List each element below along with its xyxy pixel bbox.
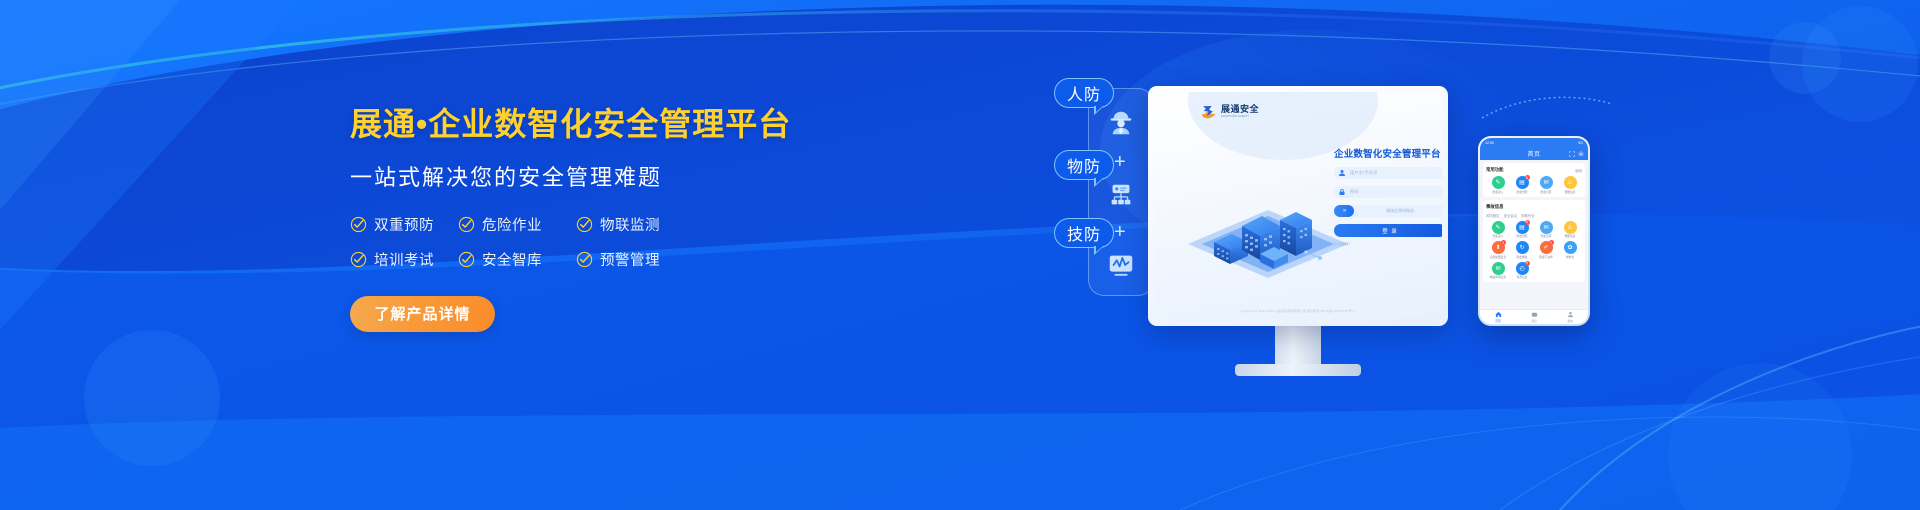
phone-tab-bar: 首页 消息 我的 (1480, 309, 1588, 324)
record-icon[interactable]: ✉ (1540, 221, 1553, 234)
nav-actions[interactable] (1569, 151, 1584, 157)
pen-note-icon[interactable]: ✎ (1492, 176, 1505, 189)
feature-item: 安全智库 (458, 249, 576, 270)
emergency-icon[interactable]: ⬆ 3 (1492, 241, 1505, 254)
background-decoration (0, 0, 1920, 510)
check-circle-icon (350, 251, 367, 268)
plus-sign: + (1114, 152, 1126, 172)
tab-item[interactable]: 风险管控 (1486, 213, 1500, 218)
tabbar-label: 首页 (1495, 319, 1501, 323)
app-label: 制度库查信息 (1490, 276, 1506, 279)
home-icon (1495, 311, 1502, 318)
app-badge: 2 (1549, 240, 1554, 245)
app-label: 预警信息 (1565, 191, 1576, 194)
feature-item: 培训考试 (350, 249, 458, 270)
monitor-base (1235, 364, 1361, 376)
plus-sign: + (1114, 222, 1126, 242)
warning-icon[interactable]: ⚠ (1564, 176, 1577, 189)
tabbar-item-profile[interactable]: 我的 (1552, 311, 1588, 323)
feature-item: 危险作业 (458, 214, 576, 235)
app-label: 隐患分配 (1517, 191, 1528, 194)
check-circle-icon (458, 251, 475, 268)
app-item[interactable]: ✿ 排查台 (1558, 241, 1582, 259)
status-time: 12:50 (1485, 141, 1494, 145)
app-item[interactable]: ✎ 隐患录入 (1486, 221, 1510, 239)
pillar-label-jifang[interactable]: 技防 (1054, 218, 1114, 248)
app-label: 隐患记录 (1541, 191, 1552, 194)
section-edit-link[interactable]: 编辑 (1575, 168, 1582, 173)
assign-icon[interactable]: ▤ 6 (1516, 176, 1529, 189)
feature-label: 危险作业 (482, 214, 542, 235)
phone-status-bar: 12:50 5G (1480, 138, 1588, 147)
check-circle-icon (458, 216, 475, 233)
page-subtitle: 一站式解决您的安全管理难题 (350, 160, 820, 192)
feature-label: 安全智库 (482, 249, 542, 270)
tab-item[interactable]: 安全会议 (1504, 213, 1518, 218)
login-button[interactable]: 登 录 (1334, 224, 1442, 237)
section-header: 常用功能 编辑 (1486, 167, 1582, 173)
slider-captcha[interactable]: » 请按住滑块拖动 (1334, 205, 1442, 217)
app-item[interactable]: ⚠ 预警信息 (1558, 176, 1582, 194)
password-field[interactable]: 密码 (1334, 186, 1442, 198)
order-icon[interactable]: ✐ 2 (1540, 241, 1553, 254)
app-badge: 6 (1525, 220, 1530, 225)
mobile-phone-mockup: 12:50 5G 首页 常用功能 (1478, 136, 1590, 326)
copyright-footnote: Copyright © 2015-2024 山东展通科技有限公司 版权所有 鲁I… (1154, 309, 1442, 314)
doc-icon[interactable]: ✉ (1492, 262, 1505, 275)
user-icon (1338, 169, 1346, 177)
gear-icon[interactable]: ✿ (1564, 241, 1577, 254)
feature-item: 预警管理 (576, 249, 696, 270)
monitor-wave-icon (1102, 248, 1140, 282)
tabbar-label: 消息 (1531, 319, 1537, 323)
worker-helmet-icon (1102, 106, 1140, 140)
app-label: 隐患整改 (1517, 256, 1528, 259)
section-title: 常用功能 (1486, 167, 1504, 173)
status-signal: 5G (1578, 141, 1583, 145)
app-item[interactable]: ✐ 2 隐患下达单 (1534, 241, 1558, 259)
monitor-screen: 展通安全 ZHANTONG SAFETY (1154, 92, 1442, 318)
assign-icon[interactable]: ▤ 6 (1516, 221, 1529, 234)
desktop-monitor-mockup: 展通安全 ZHANTONG SAFETY (1148, 86, 1448, 326)
app-label: 应急处置信息 (1490, 256, 1506, 259)
section-title: 事故信息 (1486, 204, 1504, 210)
logo-text-cn: 展通安全 (1221, 105, 1259, 114)
app-badge: 6 (1525, 175, 1530, 180)
slider-knob[interactable]: » (1334, 205, 1354, 217)
phone-screen: 12:50 5G 首页 常用功能 (1480, 138, 1588, 324)
app-label: 隐患下达单 (1539, 256, 1552, 259)
tabbar-item-message[interactable]: 消息 (1516, 311, 1552, 323)
monitor-bezel: 展通安全 ZHANTONG SAFETY (1148, 86, 1448, 326)
record-icon[interactable]: ✉ (1540, 176, 1553, 189)
defence-pillars: + + 人防 物防 技防 (1088, 88, 1156, 298)
platform-logo: 展通安全 ZHANTONG SAFETY (1200, 104, 1259, 120)
app-item[interactable]: ▤ 6 隐患分配 (1510, 176, 1534, 194)
section-header: 事故信息 (1486, 204, 1582, 210)
app-item[interactable]: ⬆ 3 应急处置信息 (1486, 241, 1510, 259)
login-panel: 企业数智化安全管理平台 用户名/手机号 密码 (1334, 146, 1442, 247)
app-item[interactable]: ✉ 隐患记录 (1534, 176, 1558, 194)
monitor-stand (1275, 324, 1321, 366)
tabbar-label: 我的 (1567, 319, 1573, 323)
scan-icon[interactable] (1569, 151, 1575, 157)
forgot-password-link[interactable]: 忘记密码？ (1334, 242, 1442, 247)
username-placeholder: 用户名/手机号 (1350, 170, 1378, 176)
tab-item[interactable]: 特殊作业 (1521, 213, 1535, 218)
city-illustration (1184, 184, 1352, 280)
app-item[interactable]: ⚠ 预警信息 (1558, 221, 1582, 239)
warning-icon[interactable]: ⚠ (1564, 221, 1577, 234)
hero-banner: 展通•企业数智化安全管理平台 一站式解决您的安全管理难题 双重预防 危险作业 (0, 0, 1920, 510)
app-grid: ✎ 隐患录入 ▤ 6 隐患分配 ✉ 隐患记录 ⚠ (1486, 221, 1582, 280)
pen-note-icon[interactable]: ✎ (1492, 221, 1505, 234)
feature-label: 培训考试 (374, 249, 434, 270)
user-icon (1567, 311, 1574, 318)
app-item[interactable]: ◴ 9 任务信息 (1510, 262, 1534, 280)
logo-mark-icon (1200, 104, 1217, 120)
tabbar-item-home[interactable]: 首页 (1480, 311, 1516, 323)
app-label: 隐患分配 (1517, 235, 1528, 238)
app-item[interactable]: ↻ 隐患整改 (1510, 241, 1534, 259)
task-icon[interactable]: ◴ 9 (1516, 262, 1529, 275)
phone-section-incident: 事故信息 风险管控 安全会议 特殊作业 ✎ 隐患录入 ▤ 6 (1483, 200, 1585, 283)
app-label: 预警信息 (1565, 235, 1576, 238)
feature-label: 双重预防 (374, 214, 434, 235)
app-label: 任务信息 (1517, 276, 1528, 279)
app-item[interactable]: ✉ 隐患记录 (1534, 221, 1558, 239)
pillar-label-renfang[interactable]: 人防 (1054, 78, 1114, 108)
nav-title: 首页 (1527, 149, 1540, 158)
app-label: 排查台 (1566, 256, 1574, 259)
app-item[interactable]: ✉ 制度库查信息 (1486, 262, 1510, 280)
section-tabs: 风险管控 安全会议 特殊作业 (1486, 213, 1582, 218)
check-circle-icon (576, 251, 593, 268)
app-badge: 3 (1501, 240, 1506, 245)
password-placeholder: 密码 (1350, 189, 1359, 195)
check-circle-icon (576, 216, 593, 233)
feature-list: 双重预防 危险作业 物联监测 (350, 214, 820, 270)
pillar-label-wufang[interactable]: 物防 (1054, 150, 1114, 180)
app-item[interactable]: ▤ 6 隐患分配 (1510, 221, 1534, 239)
page-title: 展通•企业数智化安全管理平台 (350, 104, 820, 146)
app-label: 隐患录入 (1493, 191, 1504, 194)
login-title: 企业数智化安全管理平台 (1334, 146, 1442, 160)
app-grid: ✎ 隐患录入 ▤ 6 隐患分配 ✉ 隐患记录 (1486, 176, 1582, 194)
app-badge: 9 (1525, 261, 1530, 266)
username-field[interactable]: 用户名/手机号 (1334, 167, 1442, 179)
logo-text-en: ZHANTONG SAFETY (1221, 116, 1259, 119)
feature-label: 物联监测 (600, 214, 660, 235)
feature-label: 预警管理 (600, 249, 660, 270)
phone-section-common: 常用功能 编辑 ✎ 隐患录入 ▤ 6 隐患分配 (1483, 163, 1585, 197)
background-shapes (0, 0, 1920, 510)
app-label: 隐患录入 (1493, 235, 1504, 238)
app-label: 隐患记录 (1541, 235, 1552, 238)
feature-item: 物联监测 (576, 214, 696, 235)
message-icon (1531, 311, 1538, 318)
feature-item: 双重预防 (350, 214, 458, 235)
device-network-icon (1102, 178, 1140, 212)
slider-hint: 请按住滑块拖动 (1354, 208, 1442, 214)
learn-more-button[interactable]: 了解产品详情 (350, 296, 495, 332)
check-circle-icon (350, 216, 367, 233)
lock-icon (1338, 188, 1346, 196)
gear-icon[interactable] (1578, 151, 1584, 157)
rectify-icon[interactable]: ↻ (1516, 241, 1529, 254)
app-item[interactable]: ✎ 隐患录入 (1486, 176, 1510, 194)
phone-nav-bar: 首页 (1480, 147, 1588, 160)
hero-copy: 展通•企业数智化安全管理平台 一站式解决您的安全管理难题 双重预防 危险作业 (350, 104, 820, 332)
